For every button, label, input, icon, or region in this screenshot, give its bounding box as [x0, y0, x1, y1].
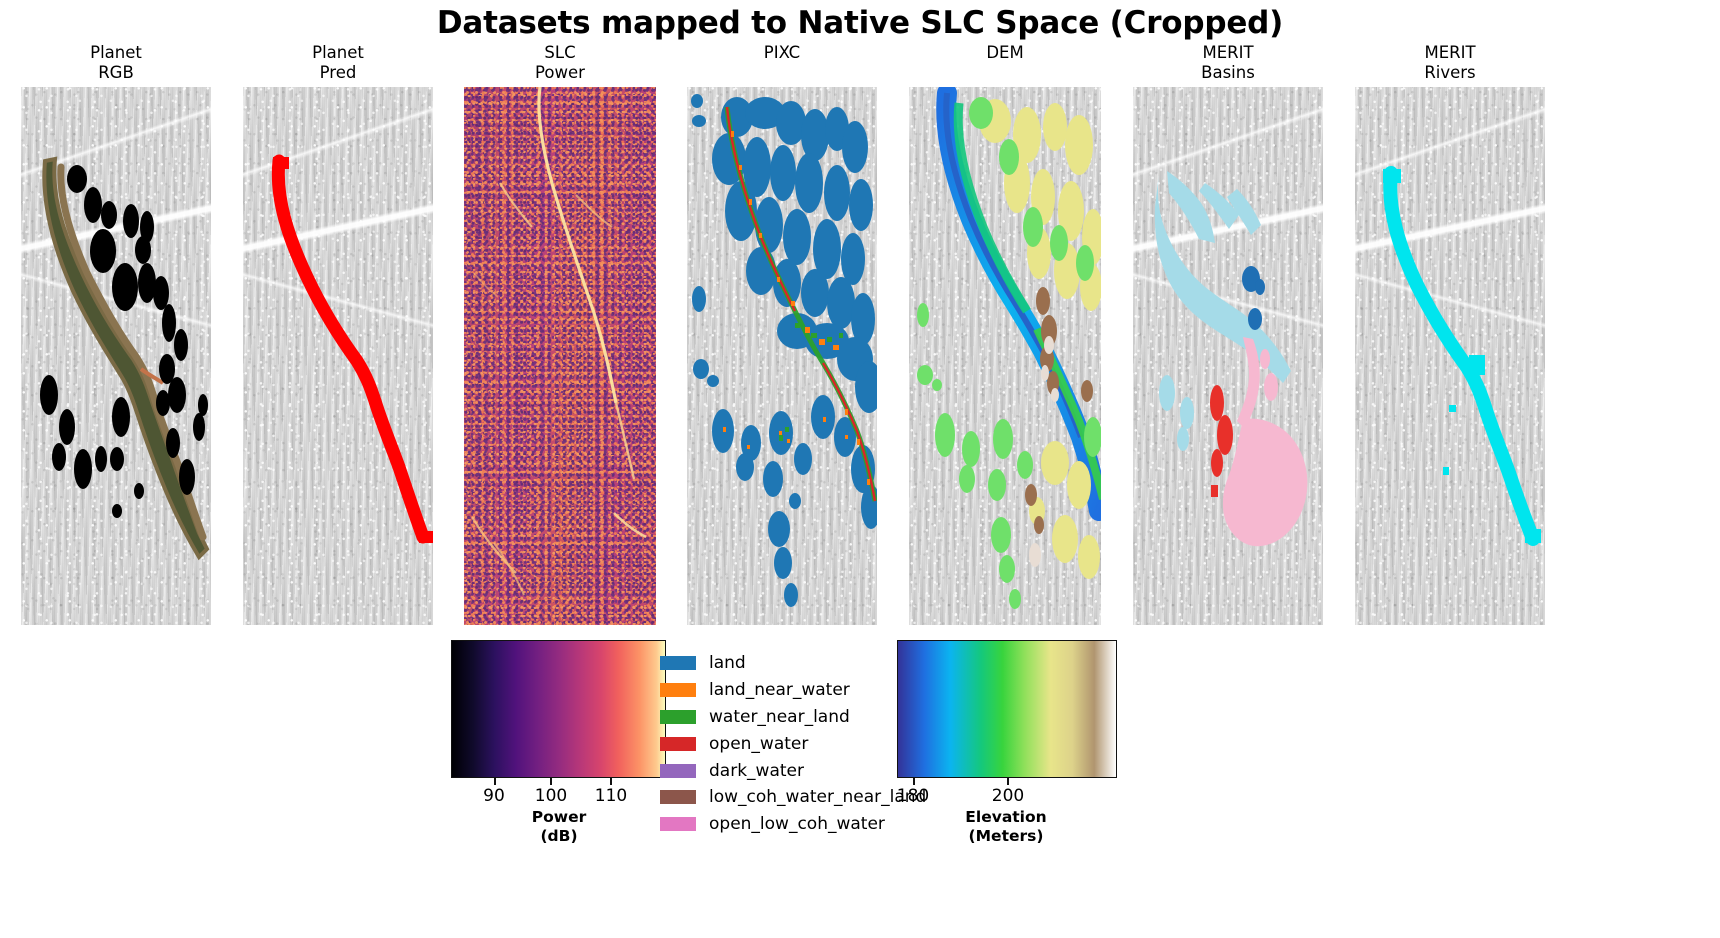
legend-label-water-near-land: water_near_land: [709, 707, 850, 727]
class-legend: land land_near_water water_near_land ope…: [660, 650, 960, 838]
panel-pixc: PIXC: [687, 87, 877, 625]
colorbar-power-ticklabel-1: 100: [521, 786, 581, 806]
colorbar-power-tick-1: [550, 778, 552, 785]
legend-item: land_near_water: [660, 677, 960, 704]
colorbar-power: [451, 640, 666, 778]
image-planet-pred: [243, 87, 433, 625]
legend-item: land: [660, 650, 960, 677]
legend-item: water_near_land: [660, 704, 960, 731]
image-merit-rivers: [1355, 87, 1545, 625]
legend-item: open_water: [660, 730, 960, 757]
panel-merit-basins: MERIT Basins: [1133, 87, 1323, 625]
panel-dem: DEM: [909, 87, 1101, 625]
panel-title-merit-rivers: MERIT Rivers: [1355, 43, 1545, 83]
colorbar-power-ticklabel-2: 110: [581, 786, 641, 806]
colorbar-power-tick-2: [610, 778, 612, 785]
figure-canvas: Datasets mapped to Native SLC Space (Cro…: [0, 0, 1720, 938]
panel-title-planet-rgb: Planet RGB: [21, 43, 211, 83]
legend-label-low-coh-water-near-land: low_coh_water_near_land: [709, 787, 926, 807]
figure-title: Datasets mapped to Native SLC Space (Cro…: [0, 5, 1720, 41]
legend-label-land-near-water: land_near_water: [709, 680, 850, 700]
legend-swatch-land: [660, 656, 696, 670]
panel-title-pixc: PIXC: [687, 43, 877, 63]
image-dem: [909, 87, 1101, 625]
legend-label-dark-water: dark_water: [709, 761, 804, 781]
merit-rivers-overlay: [1355, 87, 1545, 625]
panel-merit-rivers: MERIT Rivers: [1355, 87, 1545, 625]
image-slc-power: [464, 87, 656, 625]
dem-overlay: [909, 87, 1101, 625]
image-planet-rgb: [21, 87, 211, 625]
power-bright-features: [464, 87, 656, 625]
colorbar-power-tick-0: [494, 778, 496, 785]
colorbar-power-label: Power (dB): [459, 808, 659, 846]
panel-planet-rgb: Planet RGB: [21, 87, 211, 625]
planet-pred-overlay: [243, 87, 433, 625]
legend-item: low_coh_water_near_land: [660, 784, 960, 811]
merit-basins-overlay: [1133, 87, 1323, 625]
legend-item: open_low_coh_water: [660, 811, 960, 838]
image-pixc: [687, 87, 877, 625]
panel-planet-pred: Planet Pred: [243, 87, 433, 625]
colorbar-elevation-ticklabel-1: 200: [973, 786, 1043, 806]
planet-rgb-overlay: [21, 87, 211, 625]
legend-swatch-open-water: [660, 737, 696, 751]
panel-title-planet-pred: Planet Pred: [243, 43, 433, 83]
image-merit-basins: [1133, 87, 1323, 625]
panel-slc-power: SLC Power: [464, 87, 656, 625]
legend-swatch-dark-water: [660, 764, 696, 778]
legend-label-land: land: [709, 653, 746, 673]
panel-title-merit-basins: MERIT Basins: [1133, 43, 1323, 83]
legend-label-open-low-coh-water: open_low_coh_water: [709, 814, 885, 834]
panel-title-dem: DEM: [909, 43, 1101, 63]
legend-label-open-water: open_water: [709, 734, 808, 754]
panel-title-slc-power: SLC Power: [464, 43, 656, 83]
legend-item: dark_water: [660, 757, 960, 784]
colorbar-elevation-tick-1: [1007, 778, 1009, 785]
legend-swatch-water-near-land: [660, 710, 696, 724]
legend-swatch-open-low-coh-water: [660, 817, 696, 831]
legend-swatch-land-near-water: [660, 683, 696, 697]
pixc-overlay: [687, 87, 877, 625]
colorbar-power-ticklabel-0: 90: [464, 786, 524, 806]
legend-swatch-low-coh-water-near-land: [660, 790, 696, 804]
